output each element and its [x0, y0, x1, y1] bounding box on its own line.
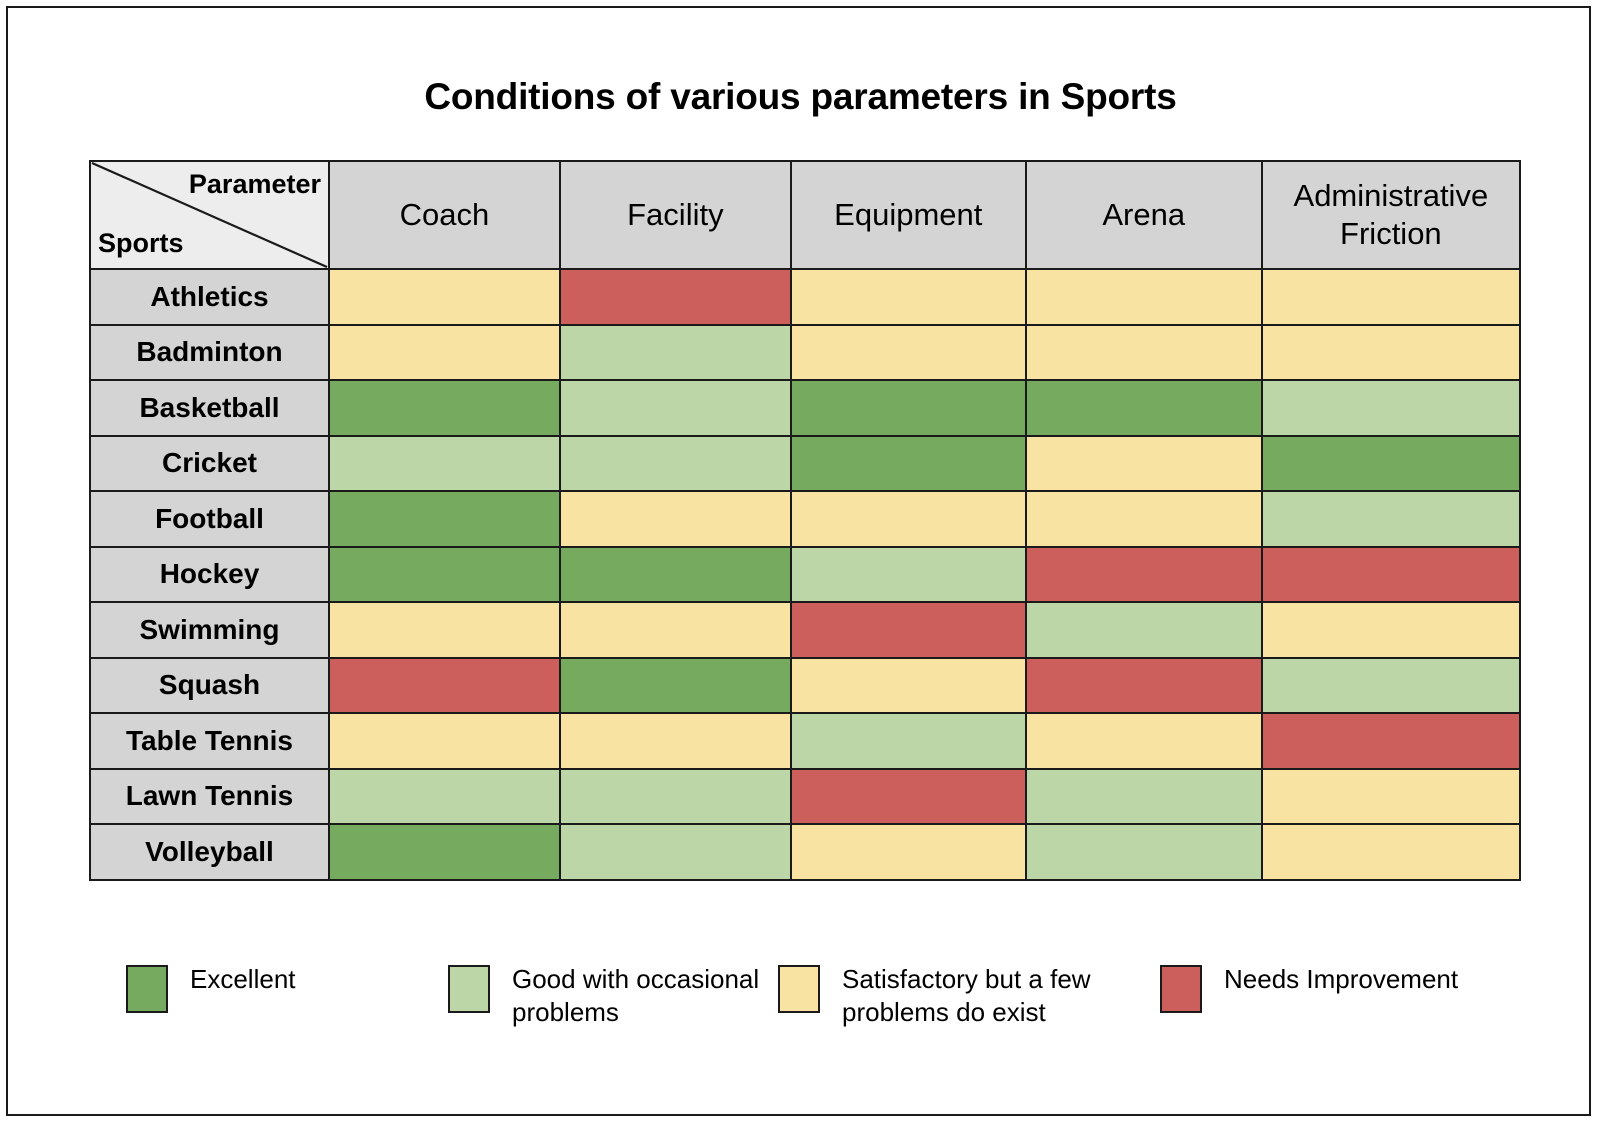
matrix-cell[interactable] [329, 713, 560, 769]
table-row: Cricket [90, 436, 1520, 492]
matrix-cell[interactable] [560, 436, 791, 492]
legend-label-good: Good with occasional problems [512, 963, 778, 1030]
table-row: Basketball [90, 380, 1520, 436]
row-header-badminton[interactable]: Badminton [90, 325, 329, 381]
matrix-cell[interactable] [1026, 269, 1262, 325]
matrix-cell[interactable] [1026, 491, 1262, 547]
matrix-cell[interactable] [1026, 380, 1262, 436]
legend-swatch-good [448, 965, 490, 1013]
matrix-cell[interactable] [791, 491, 1026, 547]
matrix-cell[interactable] [791, 769, 1026, 825]
matrix-cell[interactable] [1262, 547, 1520, 603]
table-row: Squash [90, 658, 1520, 714]
matrix-cell[interactable] [1026, 713, 1262, 769]
legend-label-needs-improvement: Needs Improvement [1224, 963, 1458, 996]
matrix-cell[interactable] [791, 824, 1026, 880]
matrix-cell[interactable] [329, 602, 560, 658]
matrix-cell[interactable] [1026, 769, 1262, 825]
matrix-cell[interactable] [560, 658, 791, 714]
corner-axis-cell: Parameter Sports [90, 161, 329, 269]
column-header-facility[interactable]: Facility [560, 161, 791, 269]
column-header-equipment[interactable]: Equipment [791, 161, 1026, 269]
matrix-cell[interactable] [329, 325, 560, 381]
matrix-cell[interactable] [560, 713, 791, 769]
table-header: Parameter Sports Coach Facility Equipmen… [90, 161, 1520, 269]
legend-swatch-excellent [126, 965, 168, 1013]
matrix-cell[interactable] [1262, 824, 1520, 880]
table-row: Badminton [90, 325, 1520, 381]
row-header-swimming[interactable]: Swimming [90, 602, 329, 658]
row-header-lawn-tennis[interactable]: Lawn Tennis [90, 769, 329, 825]
legend-label-excellent: Excellent [190, 963, 296, 996]
matrix-cell[interactable] [1262, 325, 1520, 381]
matrix-cell[interactable] [560, 491, 791, 547]
matrix-cell[interactable] [791, 325, 1026, 381]
legend: ExcellentGood with occasional problemsSa… [126, 963, 1506, 1030]
conditions-matrix-table: Parameter Sports Coach Facility Equipmen… [89, 160, 1521, 881]
matrix-cell[interactable] [1262, 713, 1520, 769]
matrix-cell[interactable] [1026, 547, 1262, 603]
matrix-cell[interactable] [1026, 436, 1262, 492]
matrix-cell[interactable] [791, 602, 1026, 658]
row-header-football[interactable]: Football [90, 491, 329, 547]
row-header-basketball[interactable]: Basketball [90, 380, 329, 436]
matrix-cell[interactable] [791, 547, 1026, 603]
page-frame: Conditions of various parameters in Spor… [6, 6, 1591, 1116]
matrix-cell[interactable] [329, 491, 560, 547]
matrix-cell[interactable] [1026, 658, 1262, 714]
matrix-cell[interactable] [1026, 325, 1262, 381]
matrix-cell[interactable] [791, 658, 1026, 714]
matrix-cell[interactable] [1262, 491, 1520, 547]
column-axis-label: Parameter [189, 170, 321, 200]
matrix-cell[interactable] [791, 269, 1026, 325]
column-header-administrative-friction[interactable]: Administrative Friction [1262, 161, 1520, 269]
matrix-cell[interactable] [329, 269, 560, 325]
matrix-cell[interactable] [560, 325, 791, 381]
matrix-cell[interactable] [329, 658, 560, 714]
row-header-cricket[interactable]: Cricket [90, 436, 329, 492]
legend-label-satisfactory: Satisfactory but a few problems do exist [842, 963, 1112, 1030]
table-row: Swimming [90, 602, 1520, 658]
table-row: Athletics [90, 269, 1520, 325]
matrix-cell[interactable] [329, 436, 560, 492]
matrix-cell[interactable] [1262, 380, 1520, 436]
table-row: Volleyball [90, 824, 1520, 880]
row-axis-label: Sports [98, 229, 184, 259]
page-title: Conditions of various parameters in Spor… [8, 76, 1593, 118]
matrix-cell[interactable] [560, 824, 791, 880]
table-body: AthleticsBadmintonBasketballCricketFootb… [90, 269, 1520, 880]
matrix-cell[interactable] [560, 769, 791, 825]
row-header-table-tennis[interactable]: Table Tennis [90, 713, 329, 769]
legend-swatch-needs-improvement [1160, 965, 1202, 1013]
table-row: Table Tennis [90, 713, 1520, 769]
row-header-squash[interactable]: Squash [90, 658, 329, 714]
legend-item-needs-improvement[interactable]: Needs Improvement [1160, 963, 1460, 1013]
row-header-athletics[interactable]: Athletics [90, 269, 329, 325]
matrix-cell[interactable] [1262, 269, 1520, 325]
matrix-cell[interactable] [329, 547, 560, 603]
matrix-cell[interactable] [560, 269, 791, 325]
table-row: Lawn Tennis [90, 769, 1520, 825]
legend-item-good[interactable]: Good with occasional problems [448, 963, 778, 1030]
table-row: Football [90, 491, 1520, 547]
matrix-cell[interactable] [560, 602, 791, 658]
matrix-cell[interactable] [560, 547, 791, 603]
matrix-cell[interactable] [1262, 602, 1520, 658]
legend-swatch-satisfactory [778, 965, 820, 1013]
column-header-arena[interactable]: Arena [1026, 161, 1262, 269]
matrix-cell[interactable] [1026, 602, 1262, 658]
matrix-cell[interactable] [791, 436, 1026, 492]
matrix-cell[interactable] [560, 380, 791, 436]
matrix-cell[interactable] [791, 380, 1026, 436]
matrix-cell[interactable] [329, 824, 560, 880]
matrix-cell[interactable] [1262, 658, 1520, 714]
matrix-cell[interactable] [1262, 436, 1520, 492]
row-header-volleyball[interactable]: Volleyball [90, 824, 329, 880]
matrix-cell[interactable] [329, 380, 560, 436]
matrix-cell[interactable] [329, 769, 560, 825]
matrix-cell[interactable] [1262, 769, 1520, 825]
table-header-row: Parameter Sports Coach Facility Equipmen… [90, 161, 1520, 269]
column-header-coach[interactable]: Coach [329, 161, 560, 269]
legend-item-excellent[interactable]: Excellent [126, 963, 448, 1013]
matrix-cell[interactable] [1026, 824, 1262, 880]
legend-item-satisfactory[interactable]: Satisfactory but a few problems do exist [778, 963, 1160, 1030]
matrix-cell[interactable] [791, 713, 1026, 769]
row-header-hockey[interactable]: Hockey [90, 547, 329, 603]
table-row: Hockey [90, 547, 1520, 603]
